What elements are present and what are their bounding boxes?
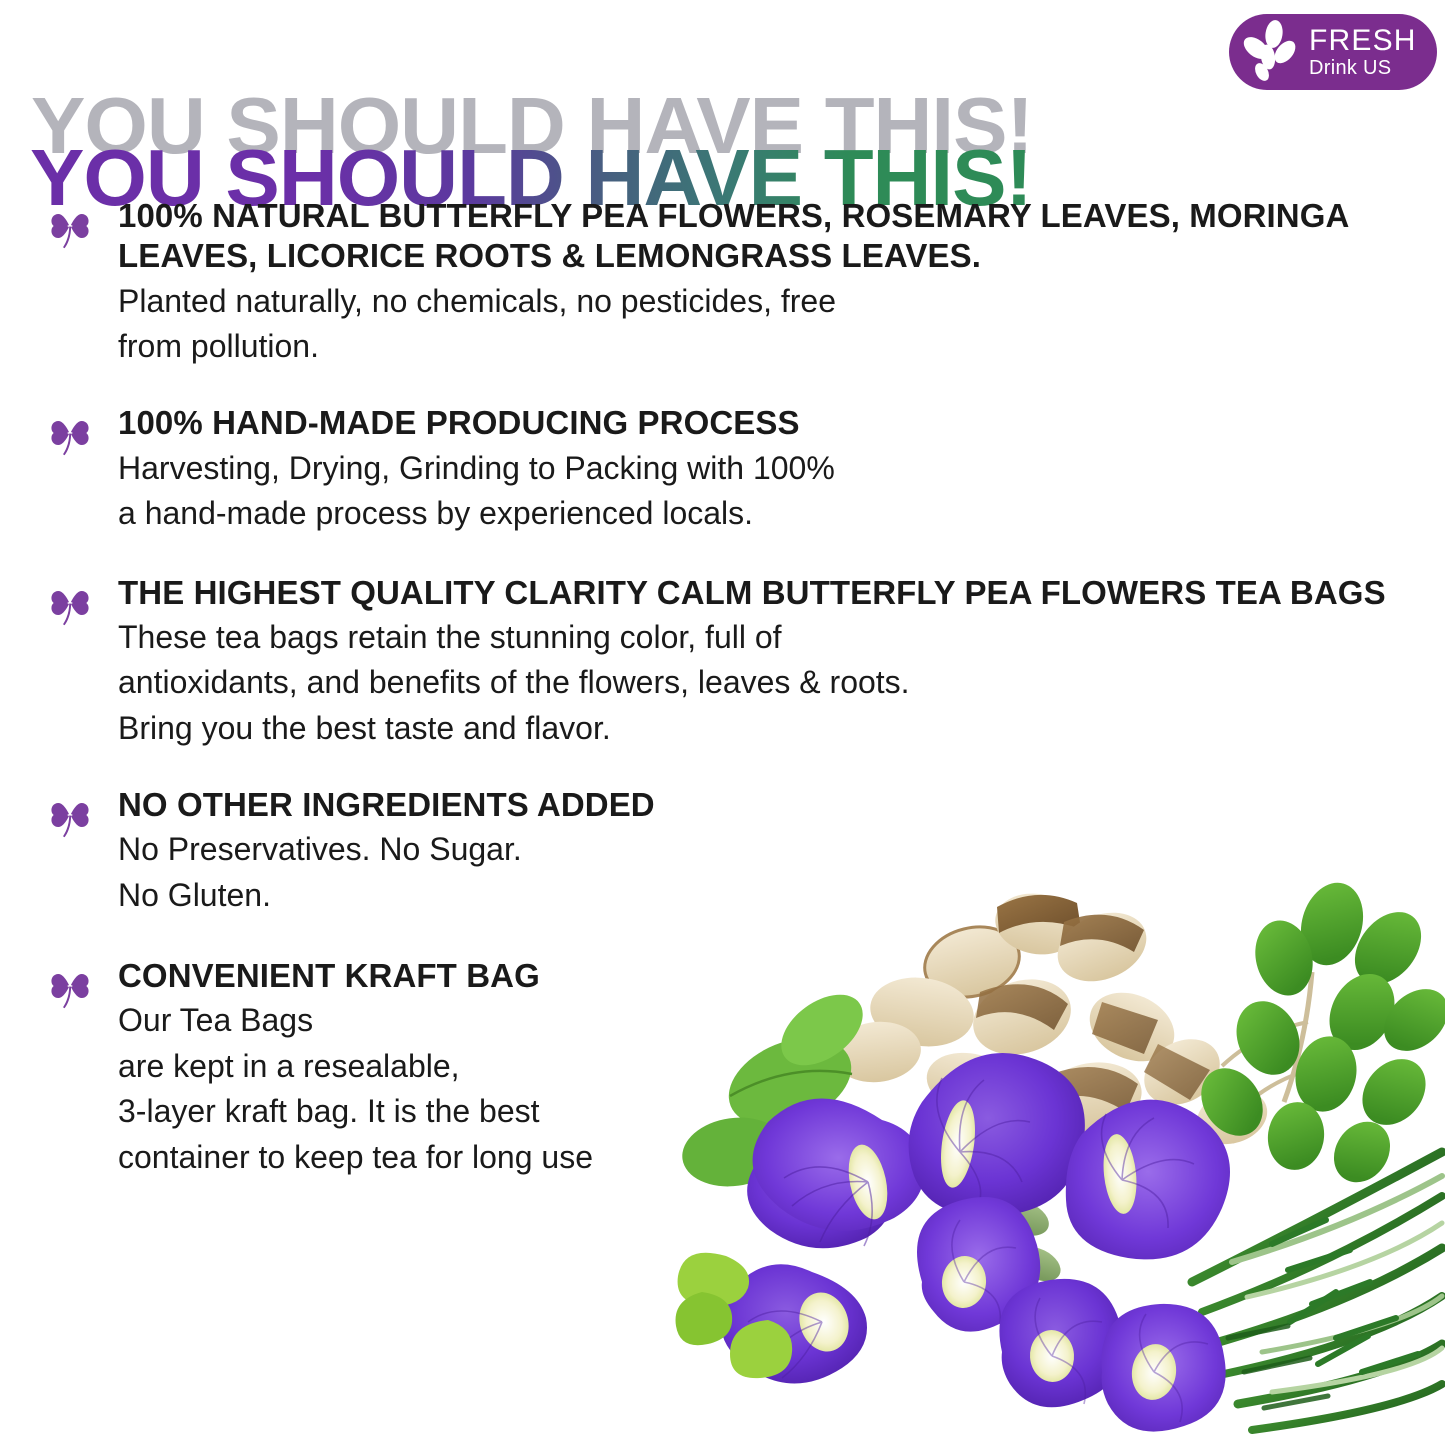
feature-body: Our Tea Bags are kept in a resealable, 3… bbox=[118, 998, 1406, 1180]
clover-icon bbox=[48, 205, 92, 251]
clover-icon bbox=[48, 794, 92, 840]
brand-name-primary: FRESH bbox=[1309, 26, 1417, 56]
feature-body: These tea bags retain the stunning color… bbox=[118, 615, 1406, 751]
feature-title: 100% HAND-MADE PRODUCING PROCESS bbox=[118, 403, 1406, 443]
brand-wordmark: FRESH Drink US bbox=[1309, 26, 1417, 78]
list-item: NO OTHER INGREDIENTS ADDED No Preservati… bbox=[46, 785, 1406, 918]
list-item: 100% NATURAL BUTTERFLY PEA FLOWERS, ROSE… bbox=[46, 196, 1406, 369]
brand-logo: FRESH Drink US bbox=[1229, 14, 1437, 90]
clover-icon bbox=[48, 582, 92, 628]
feature-title: THE HIGHEST QUALITY CLARITY CALM BUTTERF… bbox=[118, 573, 1406, 613]
feature-title: 100% NATURAL BUTTERFLY PEA FLOWERS, ROSE… bbox=[118, 196, 1406, 277]
clover-icon bbox=[48, 965, 92, 1011]
clover-icon bbox=[48, 412, 92, 458]
feature-body: No Preservatives. No Sugar. No Gluten. bbox=[118, 827, 1406, 918]
feature-body: Harvesting, Drying, Grinding to Packing … bbox=[118, 446, 1406, 537]
feature-title: CONVENIENT KRAFT BAG bbox=[118, 956, 1406, 996]
leaf-cluster-icon bbox=[1239, 19, 1305, 85]
list-item: 100% HAND-MADE PRODUCING PROCESS Harvest… bbox=[46, 403, 1406, 536]
list-item: CONVENIENT KRAFT BAG Our Tea Bags are ke… bbox=[46, 956, 1406, 1180]
brand-name-secondary: Drink US bbox=[1309, 58, 1417, 78]
feature-body: Planted naturally, no chemicals, no pest… bbox=[118, 279, 1406, 370]
infographic-page: FRESH Drink US YOU SHOULD HAVE THIS! YOU… bbox=[0, 0, 1445, 1445]
list-item: THE HIGHEST QUALITY CLARITY CALM BUTTERF… bbox=[46, 573, 1406, 752]
feature-list: 100% NATURAL BUTTERFLY PEA FLOWERS, ROSE… bbox=[46, 196, 1406, 1210]
feature-title: NO OTHER INGREDIENTS ADDED bbox=[118, 785, 1406, 825]
